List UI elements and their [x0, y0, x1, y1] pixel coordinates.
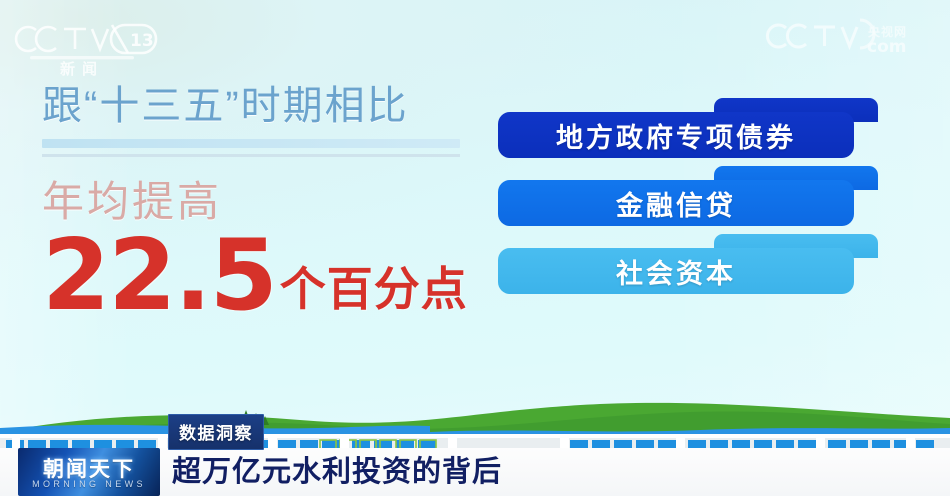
cctv-com-watermark: 央视网 com: [764, 14, 942, 62]
metric-unit: 个百分点: [280, 266, 468, 321]
funding-source-banner: 社会资本: [498, 234, 878, 286]
banner-body: 社会资本: [498, 248, 854, 294]
category-tag: 数据洞察: [168, 414, 264, 450]
headline-text: 超万亿元水利投资的背后: [172, 448, 502, 490]
divider-thick-bar: [42, 139, 460, 148]
funding-source-banner: 金融信贷: [498, 166, 878, 218]
funding-source-label: 地方政府专项债券: [556, 116, 796, 155]
funding-source-banner: 地方政府专项债券: [498, 98, 878, 150]
statistics-block: 跟“十三五”时期相比 年均提高 22.5 个百分点: [42, 84, 482, 321]
program-name-en: MORNING NEWS: [32, 479, 146, 489]
funding-source-label: 金融信贷: [616, 184, 736, 223]
broadcast-graphic-stage: 13 新闻 央视网 com 跟“十三五”时期相比 年均提高: [0, 0, 950, 496]
cctv13-channel-bug: 13 新闻: [12, 18, 164, 76]
svg-text:13: 13: [130, 31, 154, 51]
banner-body: 金融信贷: [498, 180, 854, 226]
program-logo: 朝闻天下 MORNING NEWS: [18, 448, 160, 496]
funding-source-label: 社会资本: [616, 252, 736, 291]
heading-divider: [42, 139, 460, 157]
banner-body: 地方政府专项债券: [498, 112, 854, 158]
divider-thin-line: [42, 154, 460, 157]
svg-text:新闻: 新闻: [60, 60, 104, 76]
metric-value-row: 22.5 个百分点: [42, 231, 482, 321]
comparison-heading: 跟“十三五”时期相比: [42, 84, 482, 129]
funding-sources-list: 地方政府专项债券 金融信贷 社会资本: [498, 98, 878, 302]
lower-third: 朝闻天下 MORNING NEWS 数据洞察 超万亿元水利投资的背后: [0, 448, 950, 496]
metric-value: 22.5: [42, 231, 276, 321]
svg-text:com: com: [867, 37, 906, 57]
category-tag-label: 数据洞察: [179, 424, 253, 443]
